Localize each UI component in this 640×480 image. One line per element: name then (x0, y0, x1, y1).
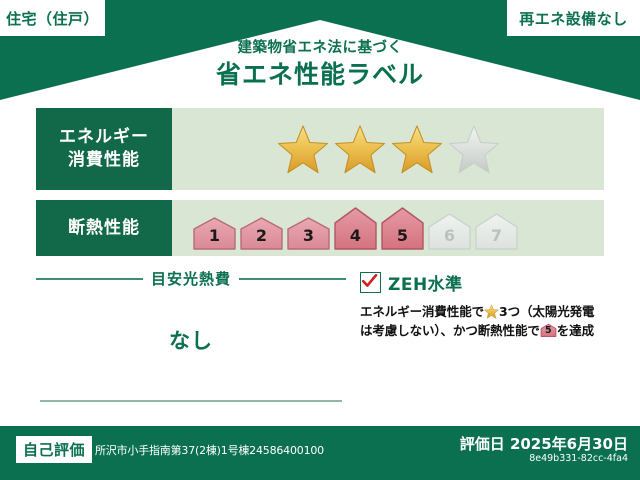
utility-cost-value: なし (36, 325, 346, 355)
zeh-checkbox (360, 272, 381, 293)
insulation-performance-label: 断熱性能 (36, 200, 172, 256)
star-icon-inline (484, 304, 499, 319)
insulation-level-5: 5 (380, 207, 425, 251)
title-block: 建築物省エネ法に基づく 省エネ性能ラベル (0, 40, 640, 91)
zeh-desc-part1: エネルギー消費性能で (360, 304, 484, 319)
house-icon-inline: 5 (540, 323, 557, 338)
insulation-level-strip: 1 2 3 (192, 205, 519, 251)
zeh-desc-part3: を達成 (557, 323, 594, 338)
page-title: 省エネ性能ラベル (0, 59, 640, 90)
energy-performance-label: エネルギー 消費性能 (36, 108, 172, 190)
insulation-level-number: 1 (192, 226, 237, 245)
energy-rating-body (172, 108, 604, 190)
insulation-level-4: 4 (333, 207, 378, 251)
energy-performance-row: エネルギー 消費性能 (36, 108, 604, 190)
evaluation-id: 8e49b331-82cc-4fa4 (529, 453, 628, 464)
content-card: エネルギー 消費性能 (22, 98, 618, 420)
footer: 自己評価 所沢市小手指南第37(2棟)1号棟24586400100 評価日 20… (0, 420, 640, 480)
zeh-panel: ZEH水準 エネルギー消費性能で 3つ（太陽光発電は考慮しない）、かつ断熱性能で… (360, 270, 610, 341)
insulation-level-number: 4 (333, 226, 378, 245)
insulation-level-3: 3 (286, 217, 331, 251)
insulation-rating-body: 1 2 3 (172, 200, 604, 256)
zeh-desc-star-count: 3つ（太陽光発電 (499, 304, 594, 319)
insulation-level-number: 3 (286, 226, 331, 245)
utility-cost-bottom-rule (40, 400, 342, 402)
zeh-desc-part2: は考慮しない）、かつ断熱性能で (360, 323, 540, 338)
insulation-level-number: 2 (239, 226, 284, 245)
energy-label-line2: 消費性能 (68, 149, 140, 172)
star-icon-filled-2 (334, 123, 386, 175)
insulation-performance-row: 断熱性能 1 (36, 200, 604, 256)
star-rating (277, 123, 500, 175)
insulation-level-6: 6 (427, 213, 472, 251)
lower-area: 目安光熱費 なし ZEH水準 エネルギー消費性能で (22, 264, 618, 420)
star-icon-filled-1 (277, 123, 329, 175)
energy-label-line1: エネルギー (59, 126, 149, 149)
badge-building-type: 住宅（住戸） (0, 0, 105, 36)
house-icon-inline-number: 5 (540, 324, 557, 339)
zeh-header: ZEH水準 (360, 270, 610, 295)
evaluation-date-value: 2025年6月30日 (510, 435, 628, 453)
check-icon (360, 272, 379, 291)
zeh-description: エネルギー消費性能で 3つ（太陽光発電は考慮しない）、かつ断熱性能で 5を達成 (360, 302, 610, 341)
evaluation-date: 評価日 2025年6月30日 (460, 433, 628, 454)
insulation-level-1: 1 (192, 217, 237, 251)
zeh-title: ZEH水準 (388, 270, 463, 295)
insulation-level-number: 7 (474, 226, 519, 245)
rule-right (239, 278, 346, 280)
star-icon-filled-3 (391, 123, 443, 175)
self-evaluation-badge: 自己評価 (16, 436, 92, 463)
insulation-level-number: 6 (427, 226, 472, 245)
evaluation-date-label: 評価日 (460, 435, 505, 453)
utility-cost-heading-row: 目安光熱費 (36, 264, 346, 289)
insulation-level-number: 5 (380, 226, 425, 245)
energy-performance-label: 住宅（住戸） 再エネ設備なし 建築物省エネ法に基づく 省エネ性能ラベル エネルギ… (0, 0, 640, 480)
building-address: 所沢市小手指南第37(2棟)1号棟24586400100 (95, 442, 324, 458)
insulation-level-2: 2 (239, 217, 284, 251)
insulation-level-7: 7 (474, 213, 519, 251)
star-icon-empty-4 (448, 123, 500, 175)
utility-cost-panel: 目安光熱費 なし (36, 264, 346, 420)
rule-left (36, 278, 143, 280)
label-subtitle: 建築物省エネ法に基づく (0, 40, 640, 57)
utility-cost-heading: 目安光熱費 (151, 268, 231, 289)
footer-rule (22, 420, 618, 422)
badge-renewable-energy: 再エネ設備なし (507, 0, 640, 36)
